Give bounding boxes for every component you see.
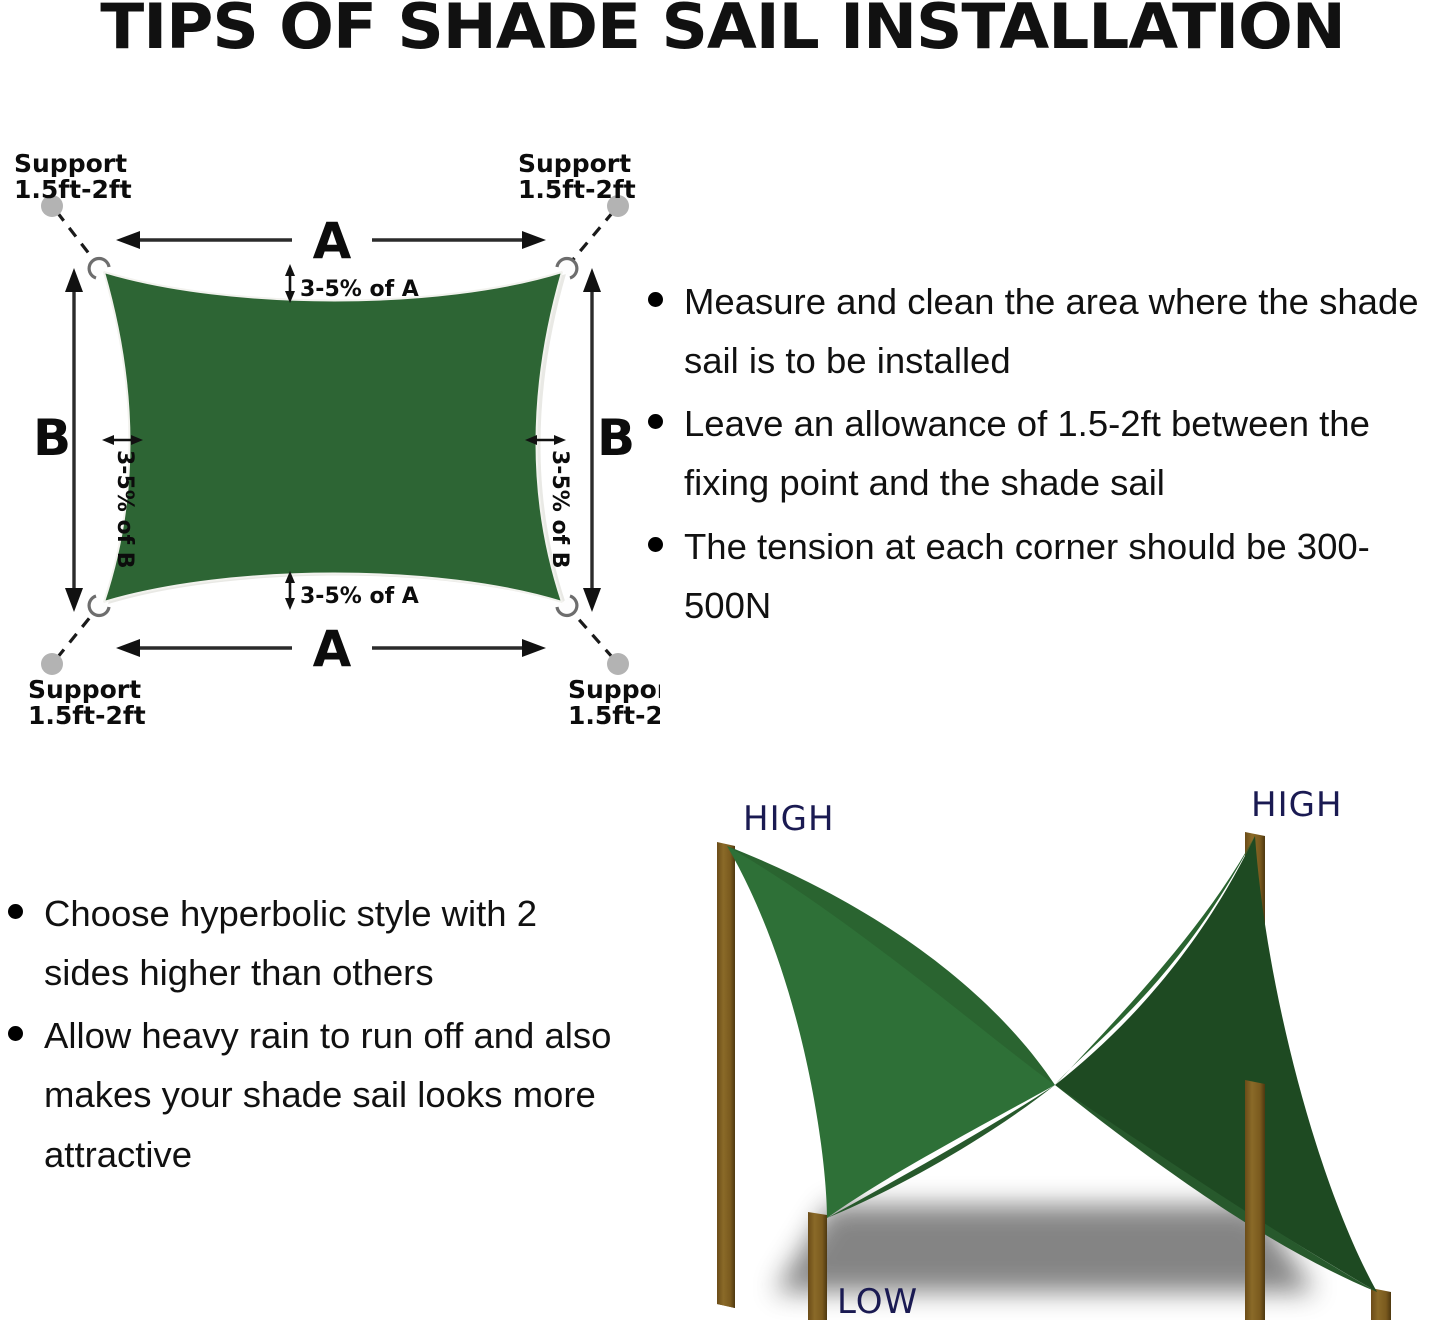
tip-text: Leave an allowance of 1.5-2ft between th… (684, 403, 1370, 503)
installation-tips-right: Measure and clean the area where the sha… (640, 272, 1445, 639)
tip-text: The tension at each corner should be 300… (684, 526, 1370, 626)
dimension-a-top: A (116, 212, 546, 270)
dimension-b-left: B (33, 268, 83, 612)
post-high-left-front (717, 920, 735, 1308)
support-label-bottom-left-line2: 1.5ft-2ft (28, 701, 146, 730)
page-title: TIPS OF SHADE SAIL INSTALLATION (0, 0, 1445, 59)
support-label-bottom-right-line2: 1.5ft-2ft (568, 701, 660, 730)
tip-item: Allow heavy rain to run off and also mak… (0, 1006, 625, 1183)
support-label-top-right-line2: 1.5ft-2ft (518, 175, 636, 204)
bullet-dot-icon (8, 1026, 23, 1041)
bullet-dot-icon (648, 537, 663, 552)
label-high-left: HIGH (743, 799, 835, 839)
post-high-right-front (1245, 1080, 1265, 1320)
support-label-bottom-right-line1: Support (568, 675, 660, 704)
tip-item: Leave an allowance of 1.5-2ft between th… (640, 394, 1445, 512)
tip-item: Measure and clean the area where the sha… (640, 272, 1445, 390)
hypar-sail-diagram: HIGH HIGH LOW LOW (655, 780, 1445, 1320)
label-curve-right: 3-5% of B (547, 450, 572, 569)
curve-callout-left: 3-5% of B (102, 435, 143, 569)
support-label-top-right-line1: Support (518, 150, 631, 178)
label-curve-bottom: 3-5% of A (300, 584, 419, 609)
post-low-left (808, 1212, 827, 1320)
tip-item: The tension at each corner should be 300… (640, 517, 1445, 635)
label-low-left: LOW (837, 1282, 918, 1320)
tip-item: Choose hyperbolic style with 2 sides hig… (0, 884, 625, 1002)
support-label-top-left-line1: Support (14, 150, 127, 178)
label-b-right: B (597, 409, 635, 467)
tip-text: Measure and clean the area where the sha… (684, 281, 1419, 381)
dimension-a-bottom: A (116, 620, 546, 678)
post-low-right (1371, 1288, 1391, 1320)
support-label-top-left-line2: 1.5ft-2ft (14, 175, 132, 204)
infographic-page: TIPS OF SHADE SAIL INSTALLATION (0, 0, 1445, 1319)
ground-shadow (775, 1205, 1315, 1292)
sail-body (104, 272, 562, 602)
bullet-dot-icon (8, 904, 23, 919)
tip-text: Allow heavy rain to run off and also mak… (44, 1015, 611, 1174)
bullet-dot-icon (648, 292, 663, 307)
label-a-top: A (313, 212, 352, 270)
bullet-dot-icon (648, 414, 663, 429)
rect-sail-diagram: A A B B 3-5% of A (0, 150, 660, 750)
label-curve-left: 3-5% of B (112, 450, 137, 569)
label-high-right: HIGH (1251, 785, 1343, 825)
label-a-bottom: A (313, 620, 352, 678)
tip-text: Choose hyperbolic style with 2 sides hig… (44, 893, 537, 993)
label-b-left: B (33, 409, 71, 467)
installation-tips-left: Choose hyperbolic style with 2 sides hig… (0, 884, 625, 1188)
curve-callout-top: 3-5% of A (285, 264, 419, 303)
label-curve-top: 3-5% of A (300, 277, 419, 302)
dimension-b-right: B (583, 268, 635, 612)
support-label-bottom-left-line1: Support (28, 675, 141, 704)
